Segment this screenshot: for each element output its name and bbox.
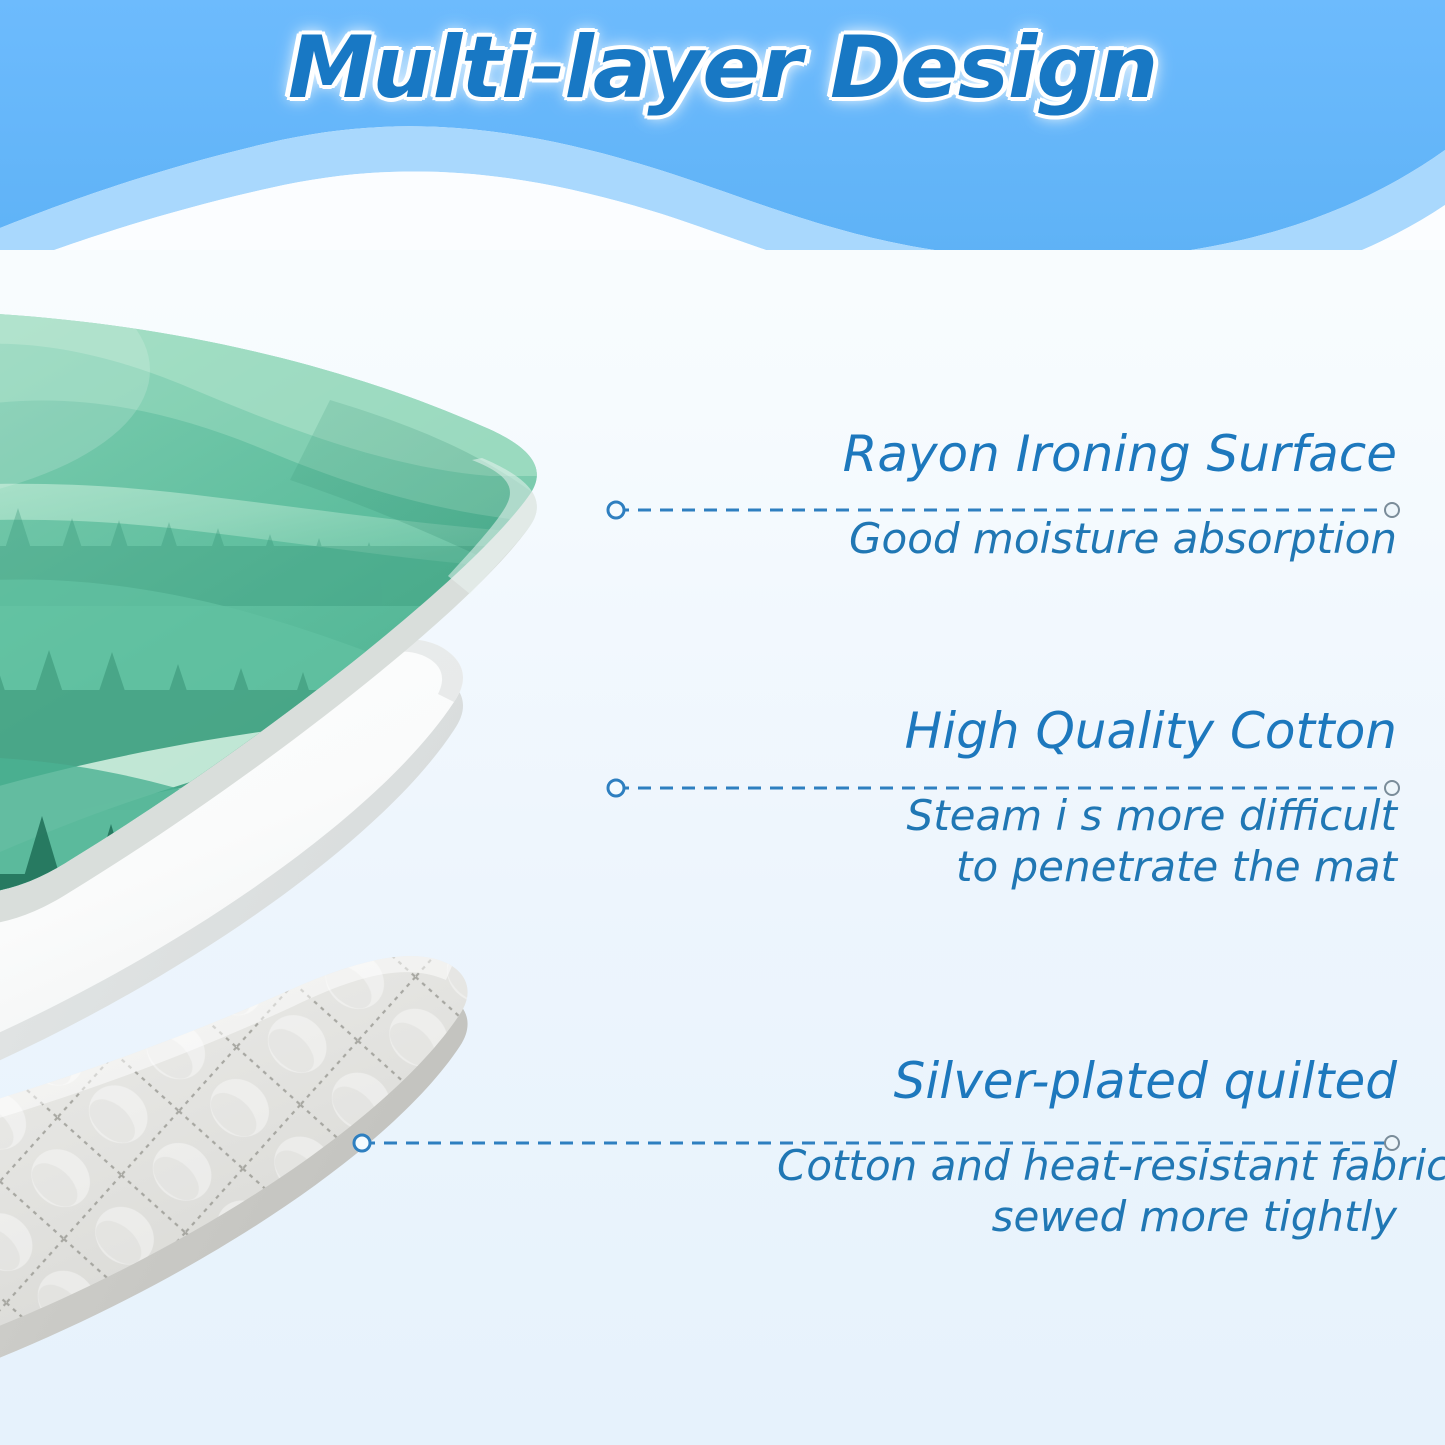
callout-subtitle-line: Good moisture absorption [777, 513, 1397, 564]
callout-rule-2 [777, 764, 1397, 786]
product-layer-illustration [0, 280, 780, 1380]
callout-title-1: Rayon Ironing Surface [777, 428, 1397, 481]
callout-subtitle-2: Steam i s more difficult to penetrate th… [777, 790, 1397, 892]
callout-high-quality-cotton: High Quality Cotton Steam i s more diffi… [777, 705, 1397, 892]
callout-subtitle-3: Cotton and heat-resistant fabrics sewed … [777, 1140, 1397, 1242]
callout-subtitle-line: to penetrate the mat [777, 841, 1397, 892]
callout-subtitle-line: Steam i s more difficult [777, 790, 1397, 841]
callout-subtitle-1: Good moisture absorption [777, 513, 1397, 564]
page-title: Multi-layer Design [0, 18, 1445, 118]
callout-subtitle-line: sewed more tightly [777, 1191, 1397, 1242]
callout-subtitle-line: Cotton and heat-resistant fabrics [777, 1140, 1397, 1191]
callout-title-3: Silver-plated quilted [777, 1055, 1397, 1108]
callout-rule-3 [777, 1114, 1397, 1136]
callout-rule-1 [777, 487, 1397, 509]
header-banner: Multi-layer Design [0, 0, 1445, 250]
callout-rayon-ironing-surface: Rayon Ironing Surface Good moisture abso… [777, 428, 1397, 564]
callout-title-2: High Quality Cotton [777, 705, 1397, 758]
callout-silver-plated-quilted: Silver-plated quilted Cotton and heat-re… [777, 1055, 1397, 1242]
infographic-page: Multi-layer Design [0, 0, 1445, 1445]
